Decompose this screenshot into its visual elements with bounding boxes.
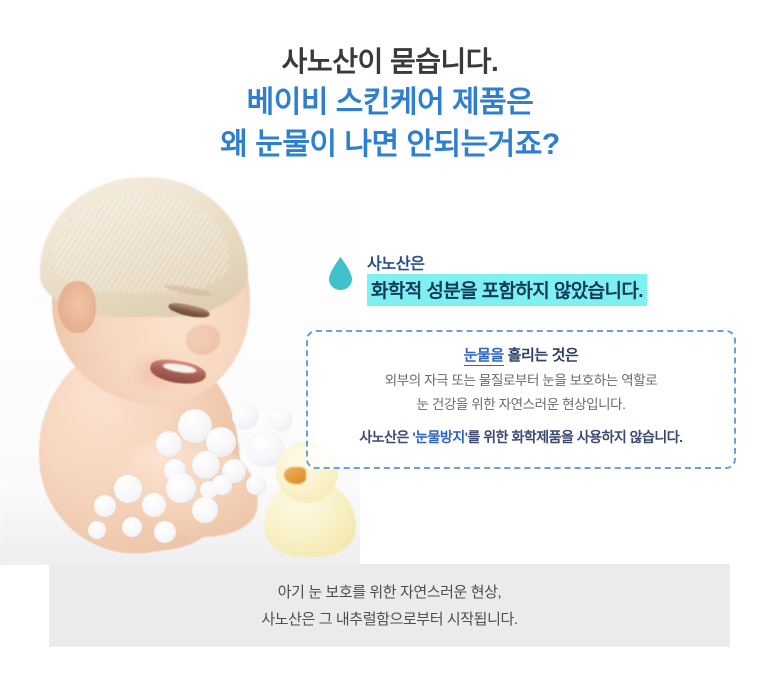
bath-foam-lower xyxy=(88,465,258,555)
footer-line-2: 사노산은 그 내추럴함으로부터 시작됩니다. xyxy=(261,606,517,633)
headline-block: 사노산이 묻습니다. 베이비 스킨케어 제품은 왜 눈물이 나면 안되는거죠? xyxy=(0,42,780,166)
info-footer-post: 를 위한 화학제품을 사용하지 않습니다. xyxy=(468,429,683,445)
headline-line-3: 왜 눈물이 나면 안되는거죠? xyxy=(0,124,780,166)
headline-line-2: 베이비 스킨케어 제품은 xyxy=(0,82,780,124)
info-box-footer: 사노산은 '눈물방지'를 위한 화학제품을 사용하지 않습니다. xyxy=(308,425,734,449)
footer-line-1: 아기 눈 보호를 위한 자연스러운 현상, xyxy=(278,579,502,606)
duck-beak xyxy=(284,467,306,484)
claim-label: 사노산은 xyxy=(367,250,425,274)
info-footer-highlight: '눈물방지' xyxy=(412,429,467,445)
promo-page: 사노산이 묻습니다. 베이비 스킨케어 제품은 왜 눈물이 나면 안되는거죠? xyxy=(0,0,780,688)
info-title-highlight: 눈물을 xyxy=(464,347,504,366)
water-drop-icon xyxy=(327,256,354,291)
info-box: 눈물을 흘리는 것은 외부의 자극 또는 물질로부터 눈을 보호하는 역할로 눈… xyxy=(306,330,736,469)
info-box-title: 눈물을 흘리는 것은 xyxy=(308,343,734,369)
info-title-rest: 흘리는 것은 xyxy=(504,347,579,364)
info-box-line-1: 외부의 자극 또는 물질로부터 눈을 보호하는 역할로 xyxy=(308,369,734,393)
info-footer-pre: 사노산은 xyxy=(359,429,412,445)
headline-line-1: 사노산이 묻습니다. xyxy=(0,42,780,82)
footer-band: 아기 눈 보호를 위한 자연스러운 현상, 사노산은 그 내추럴함으로부터 시작… xyxy=(49,564,730,647)
baby-ear xyxy=(58,281,96,333)
info-box-line-2: 눈 건강을 위한 자연스러운 현상입니다. xyxy=(308,393,734,417)
claim-highlight: 화학적 성분을 포함하지 않았습니다. xyxy=(367,274,647,306)
